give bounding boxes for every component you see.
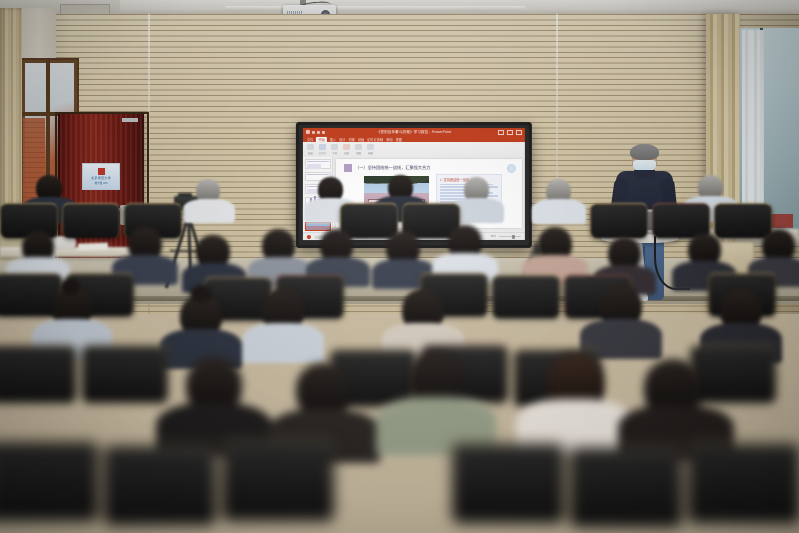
ceiling-rail xyxy=(225,6,525,11)
slide-title: （一）坚持团结统一战线，汇聚强大合力 xyxy=(355,165,430,171)
audience xyxy=(0,233,799,533)
attendee-hair-bun xyxy=(190,285,212,303)
lecture-chair[interactable] xyxy=(104,445,216,524)
presenter-collar xyxy=(634,170,655,179)
slide-thumbnail[interactable] xyxy=(304,159,330,169)
school-emblem-icon xyxy=(507,164,516,173)
ribbon-label-slides: 幻灯片 xyxy=(319,151,326,155)
ribbon-label-drawing: 绘图 xyxy=(356,151,361,155)
door-sign-line1: 北京师范大学 xyxy=(91,176,111,180)
ribbon-label-paragraph: 段落 xyxy=(344,151,349,155)
lecture-chair[interactable] xyxy=(590,203,648,238)
ribbon-label-paste: 粘贴 xyxy=(308,151,313,155)
attendee-shoulders xyxy=(532,199,586,224)
tab-transitions[interactable]: 切换 xyxy=(348,136,354,141)
paragraph-icon[interactable] xyxy=(343,144,350,150)
attendee-shoulders xyxy=(242,323,324,363)
ribbon-group-paste[interactable]: 粘贴 xyxy=(307,144,314,155)
presenter-hair xyxy=(630,144,659,160)
left-curtain xyxy=(0,8,22,220)
right-sheer-curtain xyxy=(742,30,764,230)
ppt-titlebar: 《党的百年奢斗历程》学习报告 - PowerPoint xyxy=(303,128,525,136)
tab-slideshow[interactable]: 幻灯片放映 xyxy=(367,136,383,141)
ppt-window-title: 《党的百年奢斗历程》学习报告 - PowerPoint xyxy=(303,129,525,134)
ribbon[interactable]: 粘贴 幻灯片 字体 段落 绘图 xyxy=(303,142,525,158)
door-closer-plate xyxy=(122,118,138,122)
tab-file[interactable]: 文件 xyxy=(307,136,313,141)
lecture-chair[interactable] xyxy=(222,441,334,520)
ribbon-group-editing[interactable]: 编辑 xyxy=(367,144,374,155)
lecture-chair[interactable] xyxy=(82,345,168,402)
tab-design[interactable]: 设计 xyxy=(339,136,345,141)
tab-insert[interactable]: 插入 xyxy=(330,136,336,141)
minimize-icon[interactable] xyxy=(498,130,504,135)
lecture-chair[interactable] xyxy=(0,345,76,402)
lecture-chair[interactable] xyxy=(492,275,560,318)
lecture-chair[interactable] xyxy=(452,443,564,522)
lecture-chair[interactable] xyxy=(62,203,120,238)
door-sign-line2: 教学楼 205 xyxy=(95,181,108,185)
paste-icon[interactable] xyxy=(307,144,314,150)
find-icon[interactable] xyxy=(367,144,374,150)
lecture-chair[interactable] xyxy=(570,447,682,526)
font-icon[interactable] xyxy=(331,144,338,150)
ribbon-group-font[interactable]: 字体 xyxy=(331,144,338,155)
lecture-chair[interactable] xyxy=(0,441,98,520)
ribbon-label-font: 字体 xyxy=(332,151,337,155)
ribbon-group-drawing[interactable]: 绘图 xyxy=(355,144,362,155)
window-controls[interactable] xyxy=(498,130,522,135)
attendee-hair-bun xyxy=(60,279,80,295)
ribbon-label-editing: 编辑 xyxy=(368,151,373,155)
tab-view[interactable]: 视图 xyxy=(396,136,402,141)
title-bullet-icon xyxy=(344,164,352,172)
tab-animations[interactable]: 动画 xyxy=(358,136,364,141)
tab-review[interactable]: 审阅 xyxy=(386,136,392,141)
lecture-chair[interactable] xyxy=(714,203,772,238)
lecture-chair[interactable] xyxy=(690,345,776,402)
maximize-icon[interactable] xyxy=(507,130,513,135)
lecture-chair[interactable] xyxy=(688,443,799,522)
attendee-shoulders xyxy=(183,199,235,223)
tab-home[interactable]: 开始 xyxy=(316,136,326,141)
lecture-hall-scene: 北京师范大学 教学楼 205 《党的百年奢斗历程》学习报告 - PowerPoi… xyxy=(0,0,799,533)
door-sign-emblem-icon xyxy=(98,168,105,175)
ribbon-group-slides[interactable]: 幻灯片 xyxy=(319,144,326,155)
slide-title-row: （一）坚持团结统一战线，汇聚强大合力 xyxy=(344,164,430,172)
door-sign: 北京师范大学 教学楼 205 xyxy=(82,163,120,190)
ribbon-group-paragraph[interactable]: 段落 xyxy=(343,144,350,155)
shapes-icon[interactable] xyxy=(355,144,362,150)
close-icon[interactable] xyxy=(516,130,522,135)
new-slide-icon[interactable] xyxy=(319,144,326,150)
lecture-chair[interactable] xyxy=(340,203,398,238)
